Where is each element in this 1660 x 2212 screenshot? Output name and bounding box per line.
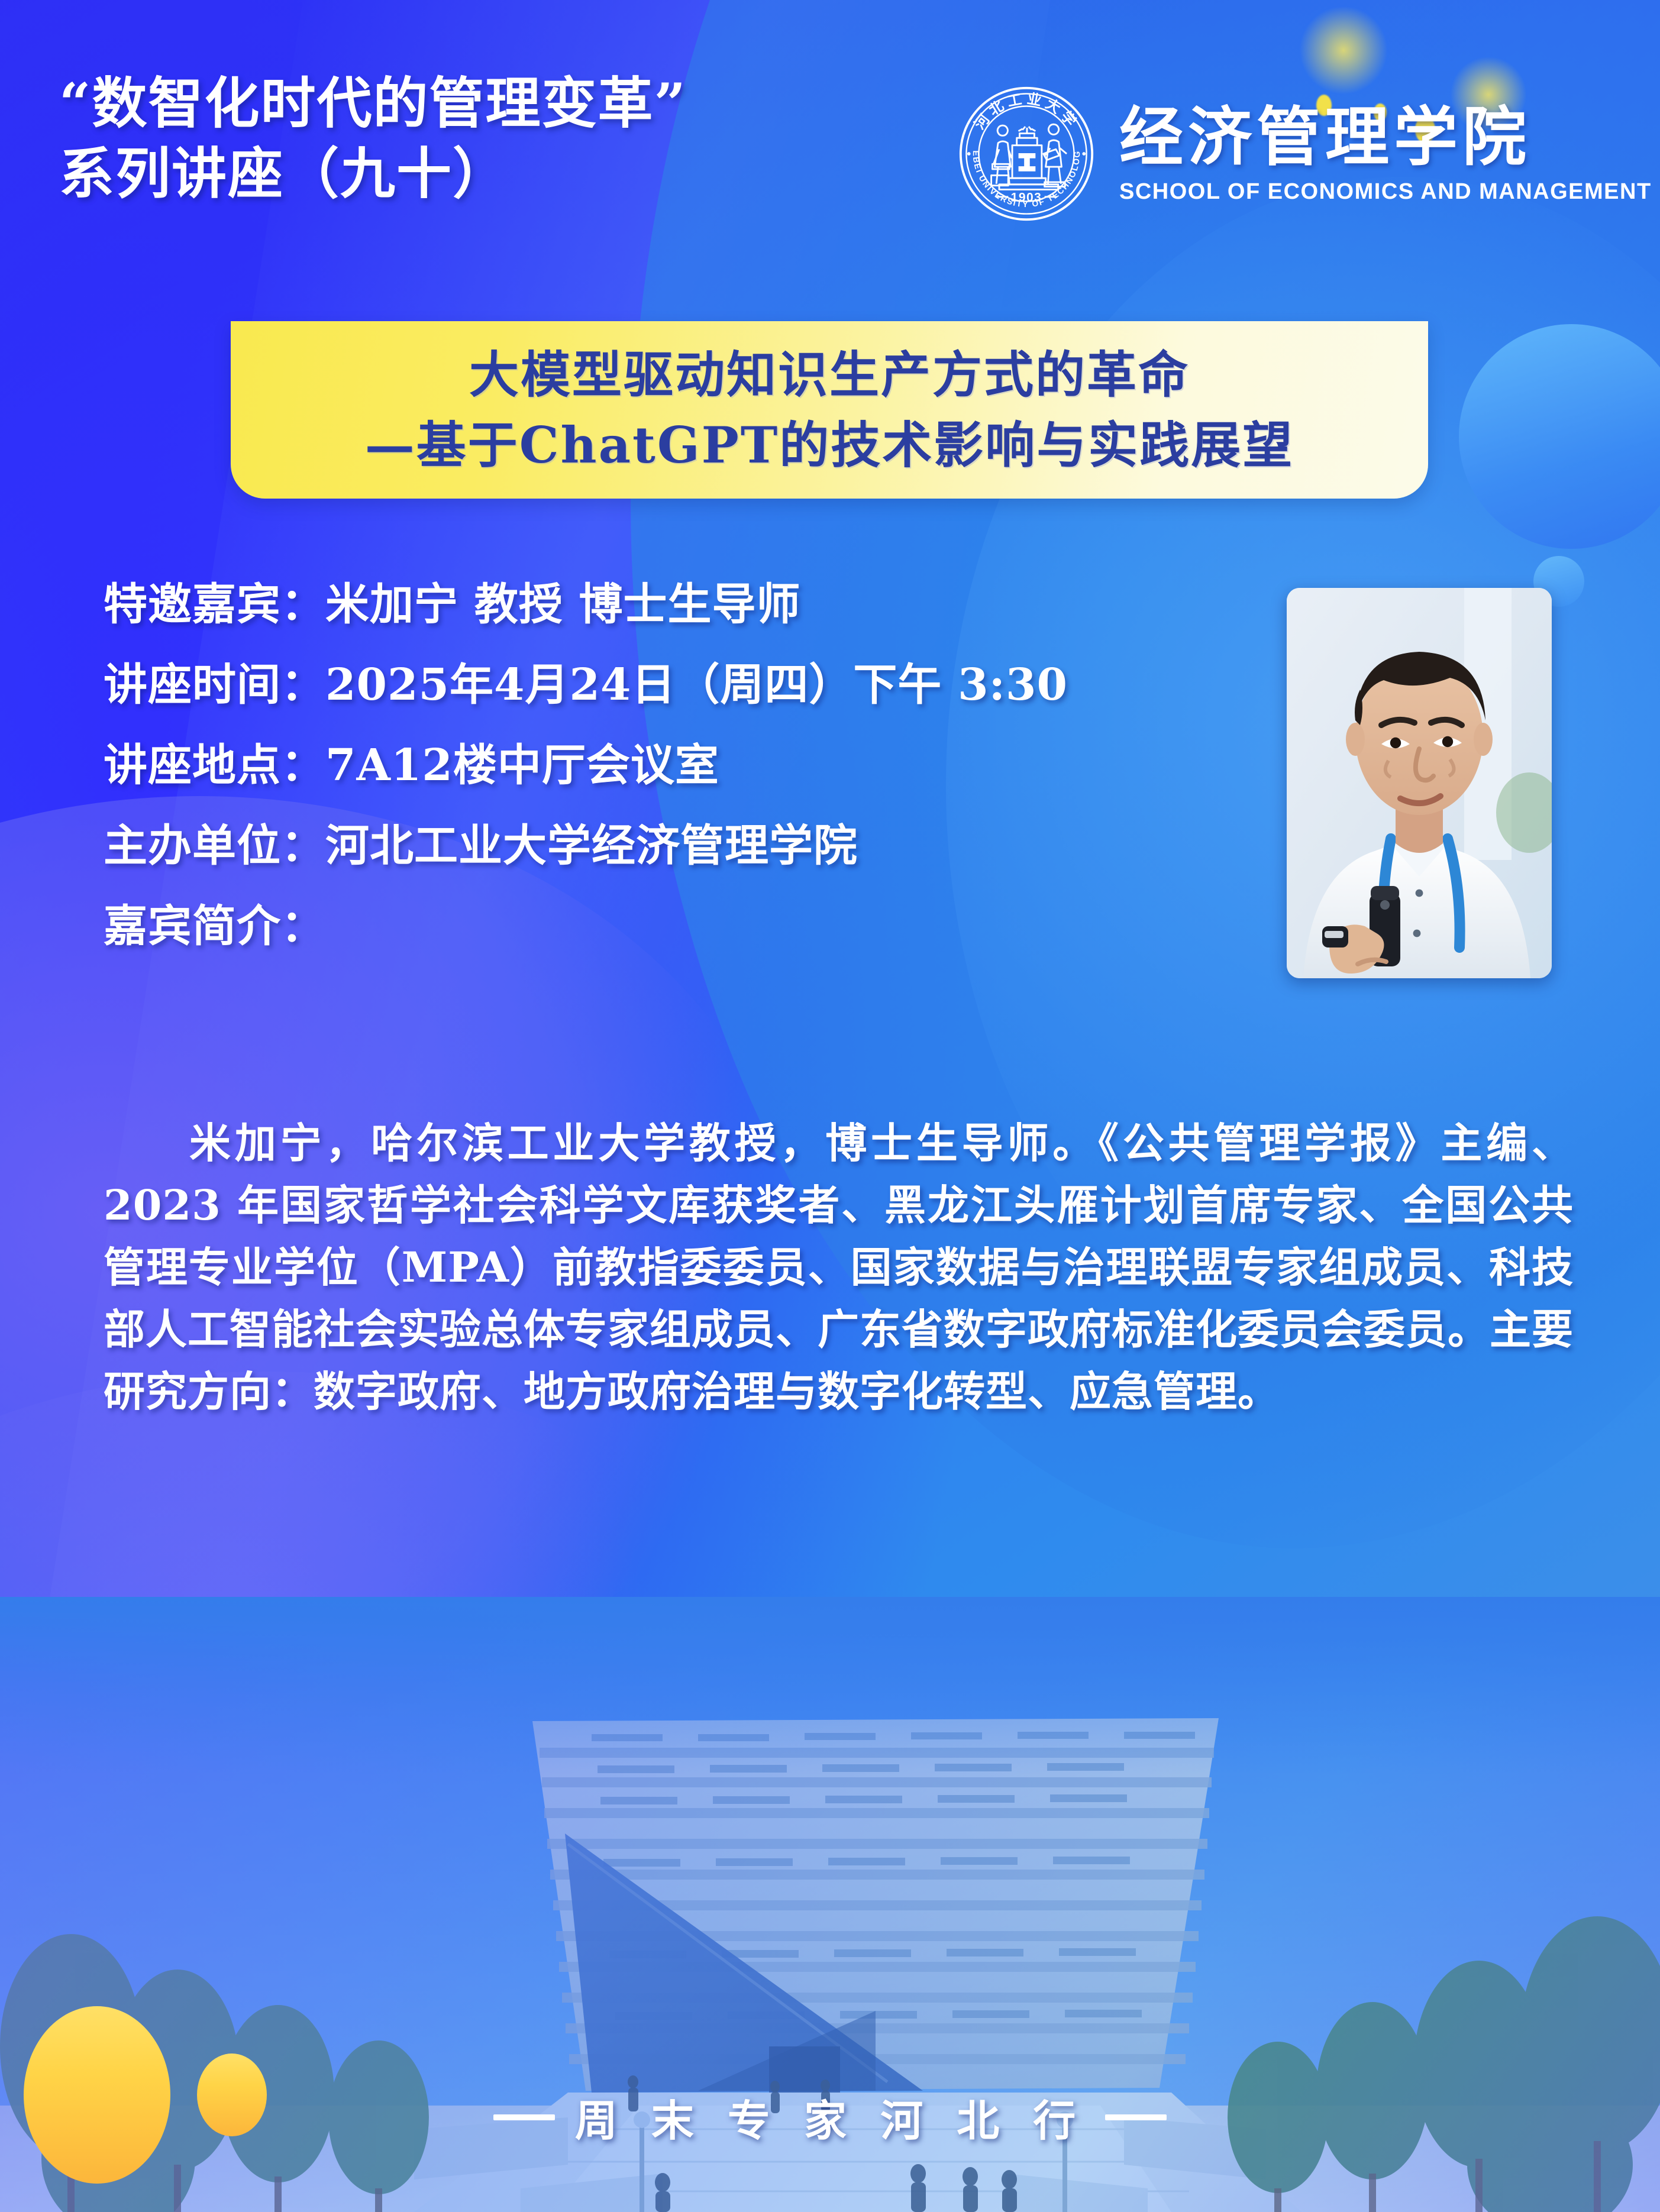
speaker-bio: 米加宁，哈尔滨工业大学教授，博士生导师。《公共管理学报》主编、2023 年国家哲… [104, 1112, 1574, 1422]
info-place: 讲座地点：7A12楼中厅会议室 [104, 743, 1287, 787]
info-bio-label: 嘉宾简介： [104, 904, 1287, 948]
lecture-title-line-2: —基于ChatGPT的技术影响与实践展望 [365, 410, 1294, 480]
info-host: 主办单位：河北工业大学经济管理学院 [104, 824, 1287, 868]
footer-rule-right [1105, 2114, 1167, 2120]
school-name-en: SCHOOL OF ECONOMICS AND MANAGEMENT [1119, 179, 1652, 205]
footer-rule-left [493, 2114, 555, 2120]
footer-tagline: 周 末 专 家 河 北 行 [0, 2086, 1660, 2148]
school-brand: 河北工业大学 HEBEI UNIVERSITY OF TECHNOLOGY [958, 86, 1652, 222]
lecture-info-list: 特邀嘉宾：米加宁 教授 博士生导师 讲座时间：2025年4月24日（周四）下午 … [104, 583, 1287, 948]
school-name-cn: 经济管理学院 [1119, 103, 1652, 172]
school-name-block: 经济管理学院 SCHOOL OF ECONOMICS AND MANAGEMEN… [1119, 103, 1652, 205]
lecture-poster: “数智化时代的管理变革” 系列讲座（九十） 河北工业大学 HEBEI UNIV [0, 0, 1660, 2212]
poster-header: “数智化时代的管理变革” 系列讲座（九十） 河北工业大学 HEBEI UNIV [0, 0, 1660, 278]
svg-text:河北工业大学: 河北工业大学 [971, 90, 1082, 132]
svg-text:1903: 1903 [1011, 191, 1042, 205]
decorative-circle-large [1459, 324, 1660, 549]
university-seal-icon: 河北工业大学 HEBEI UNIVERSITY OF TECHNOLOGY [958, 86, 1094, 222]
info-time: 讲座时间：2025年4月24日（周四）下午 3:30 [104, 663, 1287, 707]
series-title: “数智化时代的管理变革” 系列讲座（九十） [59, 68, 687, 209]
footer-tagline-text: 周 末 专 家 河 北 行 [575, 2086, 1085, 2148]
speaker-portrait [1287, 588, 1552, 978]
info-guest: 特邀嘉宾：米加宁 教授 博士生导师 [104, 583, 1287, 626]
lecture-title-line-1: 大模型驱动知识生产方式的革命 [469, 339, 1190, 410]
lecture-title-banner: 大模型驱动知识生产方式的革命 —基于ChatGPT的技术影响与实践展望 [231, 321, 1428, 499]
